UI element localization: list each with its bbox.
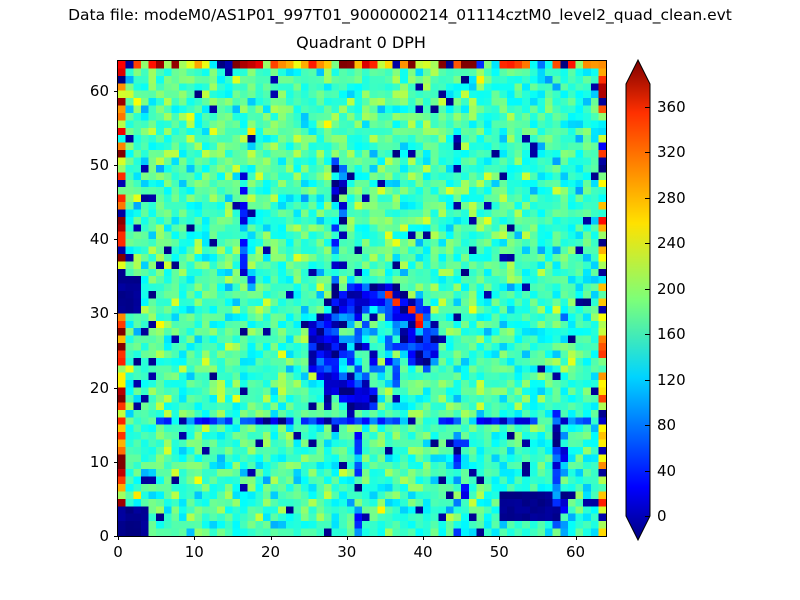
y-tick-mark bbox=[114, 462, 118, 463]
y-tick-label: 30 bbox=[73, 304, 109, 322]
y-tick-mark bbox=[114, 165, 118, 166]
colorbar-tick-mark bbox=[645, 380, 650, 381]
colorbar-tick-label: 0 bbox=[657, 507, 667, 525]
data-file-title: Data file: modeM0/AS1P01_997T01_90000002… bbox=[0, 6, 800, 24]
y-tick-label: 60 bbox=[73, 82, 109, 100]
x-tick-mark bbox=[423, 536, 424, 540]
colorbar-tick-mark bbox=[645, 425, 650, 426]
colorbar-tick-mark bbox=[645, 471, 650, 472]
y-tick-mark bbox=[114, 313, 118, 314]
colorbar-tick-label: 240 bbox=[657, 234, 686, 252]
y-tick-label: 0 bbox=[73, 527, 109, 545]
y-tick-mark bbox=[114, 239, 118, 240]
colorbar-tick-mark bbox=[645, 516, 650, 517]
colorbar[interactable] bbox=[626, 60, 650, 540]
y-tick-label: 10 bbox=[73, 453, 109, 471]
colorbar-tick-mark bbox=[645, 198, 650, 199]
y-tick-mark bbox=[114, 536, 118, 537]
x-tick-mark bbox=[194, 536, 195, 540]
x-tick-label: 40 bbox=[413, 543, 432, 561]
colorbar-tick-label: 360 bbox=[657, 98, 686, 116]
heatmap-axes[interactable] bbox=[117, 60, 607, 537]
x-tick-label: 10 bbox=[185, 543, 204, 561]
x-tick-label: 0 bbox=[113, 543, 123, 561]
x-tick-label: 20 bbox=[261, 543, 280, 561]
x-tick-label: 60 bbox=[566, 543, 585, 561]
colorbar-tick-label: 80 bbox=[657, 416, 676, 434]
x-tick-mark bbox=[347, 536, 348, 540]
colorbar-tick-label: 40 bbox=[657, 462, 676, 480]
figure-canvas: Data file: modeM0/AS1P01_997T01_90000002… bbox=[0, 0, 800, 600]
x-tick-label: 30 bbox=[337, 543, 356, 561]
x-tick-label: 50 bbox=[490, 543, 509, 561]
colorbar-tick-mark bbox=[645, 243, 650, 244]
colorbar-tick-label: 200 bbox=[657, 280, 686, 298]
colorbar-tick-mark bbox=[645, 152, 650, 153]
y-tick-label: 50 bbox=[73, 156, 109, 174]
x-tick-mark bbox=[271, 536, 272, 540]
dph-heatmap-image[interactable] bbox=[118, 61, 606, 536]
x-tick-mark bbox=[499, 536, 500, 540]
colorbar-tick-mark bbox=[645, 107, 650, 108]
page-title: Quadrant 0 DPH bbox=[117, 33, 605, 52]
x-tick-mark bbox=[118, 536, 119, 540]
colorbar-tick-mark bbox=[645, 334, 650, 335]
colorbar-gradient bbox=[626, 60, 650, 540]
y-tick-label: 40 bbox=[73, 230, 109, 248]
y-tick-label: 20 bbox=[73, 379, 109, 397]
y-tick-mark bbox=[114, 388, 118, 389]
colorbar-tick-label: 160 bbox=[657, 325, 686, 343]
colorbar-tick-label: 280 bbox=[657, 189, 686, 207]
colorbar-tick-label: 120 bbox=[657, 371, 686, 389]
y-tick-mark bbox=[114, 91, 118, 92]
colorbar-tick-mark bbox=[645, 289, 650, 290]
colorbar-tick-label: 320 bbox=[657, 143, 686, 161]
x-tick-mark bbox=[576, 536, 577, 540]
